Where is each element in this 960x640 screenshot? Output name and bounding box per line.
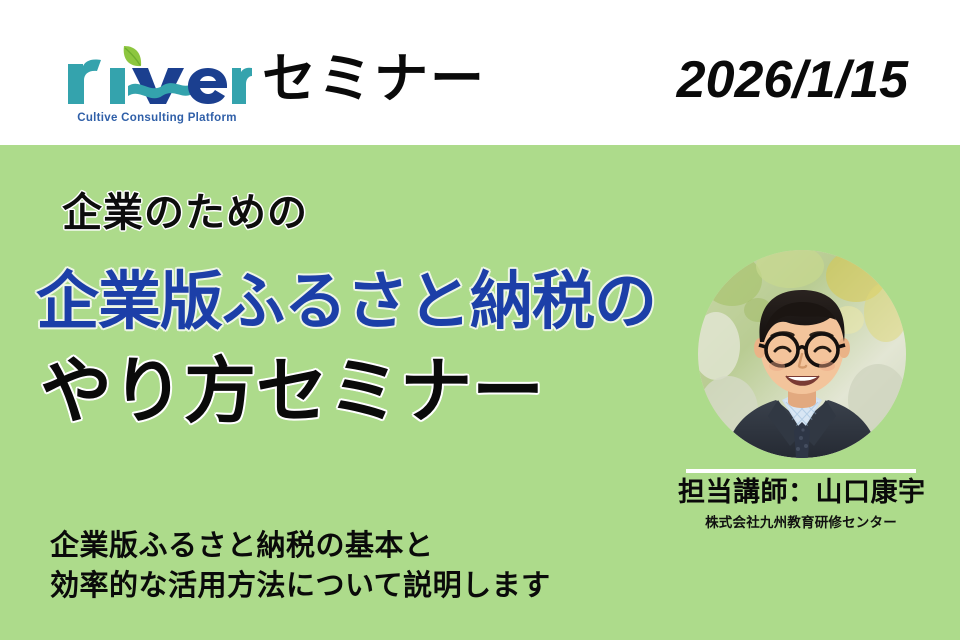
description-line-2: 効率的な活用方法について説明します [50,565,551,605]
headline-primary: 企業版ふるさと納税の [36,270,656,333]
seminar-description: 企業版ふるさと納税の基本と 効率的な活用方法について説明します [50,525,551,605]
speaker-divider [686,469,916,473]
instructor-photo [698,250,906,458]
river-wordmark [62,42,252,108]
headline-secondary: やり方セミナー [40,355,544,427]
speaker-name: 担当講師：山口康宇 [678,478,924,508]
river-logo: Cultive Consulting Platform [62,42,252,134]
speaker-organization: 株式会社九州教育研修センター [678,516,924,531]
description-line-1: 企業版ふるさと納税の基本と [50,525,551,565]
seminar-date: 2026/1/15 [677,54,908,106]
banner-body: 企業のための 企業版ふるさと納税の やり方セミナー 企業版ふるさと納税の基本と … [0,145,960,640]
banner-header: Cultive Consulting Platform セミナー 2026/1/… [0,0,960,145]
logo-tagline: Cultive Consulting Platform [62,112,252,124]
leaf-icon [124,46,141,66]
seminar-label: セミナー [262,52,486,106]
seminar-banner: Cultive Consulting Platform セミナー 2026/1/… [0,0,960,640]
headline-kicker: 企業のための [62,193,308,233]
